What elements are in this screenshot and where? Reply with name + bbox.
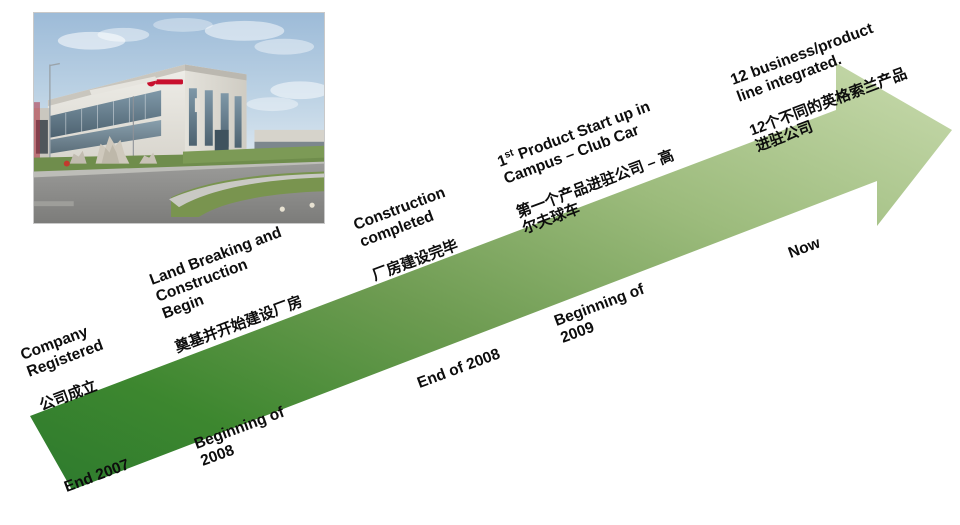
- milestone-label-construction-completed: Construction completed 厂房建设完毕: [345, 167, 473, 301]
- timestamp-now: Now: [786, 235, 823, 263]
- milestone-cn-0: 公司成立: [37, 370, 118, 414]
- facility-photo: [33, 12, 325, 224]
- facility-photo-image: [34, 13, 324, 223]
- milestone-label-first-product-start-up: 1st Product Start up in Campus – Club Ca…: [489, 80, 689, 255]
- timestamp-end-2008: End of 2008: [415, 346, 503, 393]
- milestone-en-0: Company Registered: [18, 320, 106, 382]
- milestone-label-company-registered: Company Registered 公司成立: [12, 303, 125, 432]
- timestamp-beginning-2008: Beginning of 2008: [192, 404, 293, 471]
- timestamp-end-2007: End 2007: [62, 456, 132, 497]
- timestamp-beginning-2009: Beginning of 2009: [552, 281, 653, 348]
- slide-canvas: Company Registered 公司成立 Land Breaking an…: [0, 0, 960, 525]
- milestone-label-twelve-business-lines: 12 business/product line integrated. 12个…: [722, 0, 922, 173]
- milestone-label-land-breaking: Land Breaking and Construction Begin 奠基并…: [141, 207, 316, 373]
